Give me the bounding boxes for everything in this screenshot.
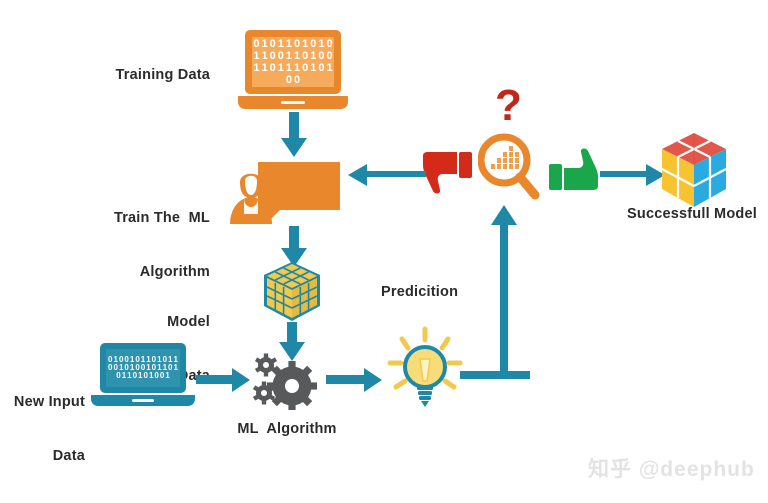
- label-question-mark: ?: [495, 84, 522, 128]
- laptop-teal-binary-icon: 010010110 101100101 001011010 110101001: [100, 343, 186, 406]
- laptop-orange-binary-icon: 01011010 10110011 01001101 11010100: [245, 30, 341, 109]
- watermark: 知乎 @deephub: [588, 453, 755, 483]
- arrow-newinput-to-algorithm: [196, 368, 252, 392]
- label-new-input-line2: Data: [0, 447, 85, 465]
- person-whiteboard-icon: [228, 162, 340, 224]
- arrow-to-successful-model: [600, 164, 668, 188]
- label-successful-model: Successfull Model: [612, 205, 768, 223]
- diagram-canvas: Training Data 01011010 10110011 01001101…: [0, 0, 768, 503]
- thumbs-up-icon: [548, 148, 600, 194]
- label-train-line1: Train The ML: [50, 209, 210, 227]
- rubiks-cube-icon: [660, 131, 728, 214]
- label-new-input-data: New Input Data: [0, 357, 85, 501]
- gears-icon: [252, 348, 318, 415]
- thumbs-down-icon: [421, 150, 473, 196]
- label-new-input-line1: New Input: [0, 393, 85, 411]
- arrow-prediction-to-evaluation: [440, 205, 530, 380]
- arrow-evaluation-to-train: [348, 164, 426, 188]
- arrow-algorithm-to-prediction: [326, 368, 386, 392]
- cube-yellow-teal-icon: [262, 261, 322, 328]
- label-model-line1: Model: [90, 313, 210, 331]
- label-training-data: Training Data: [60, 66, 210, 84]
- magnifier-chart-icon: [478, 133, 540, 201]
- arrow-training-to-train: [281, 112, 307, 157]
- label-ml-algorithm: ML Algorithm: [222, 420, 352, 438]
